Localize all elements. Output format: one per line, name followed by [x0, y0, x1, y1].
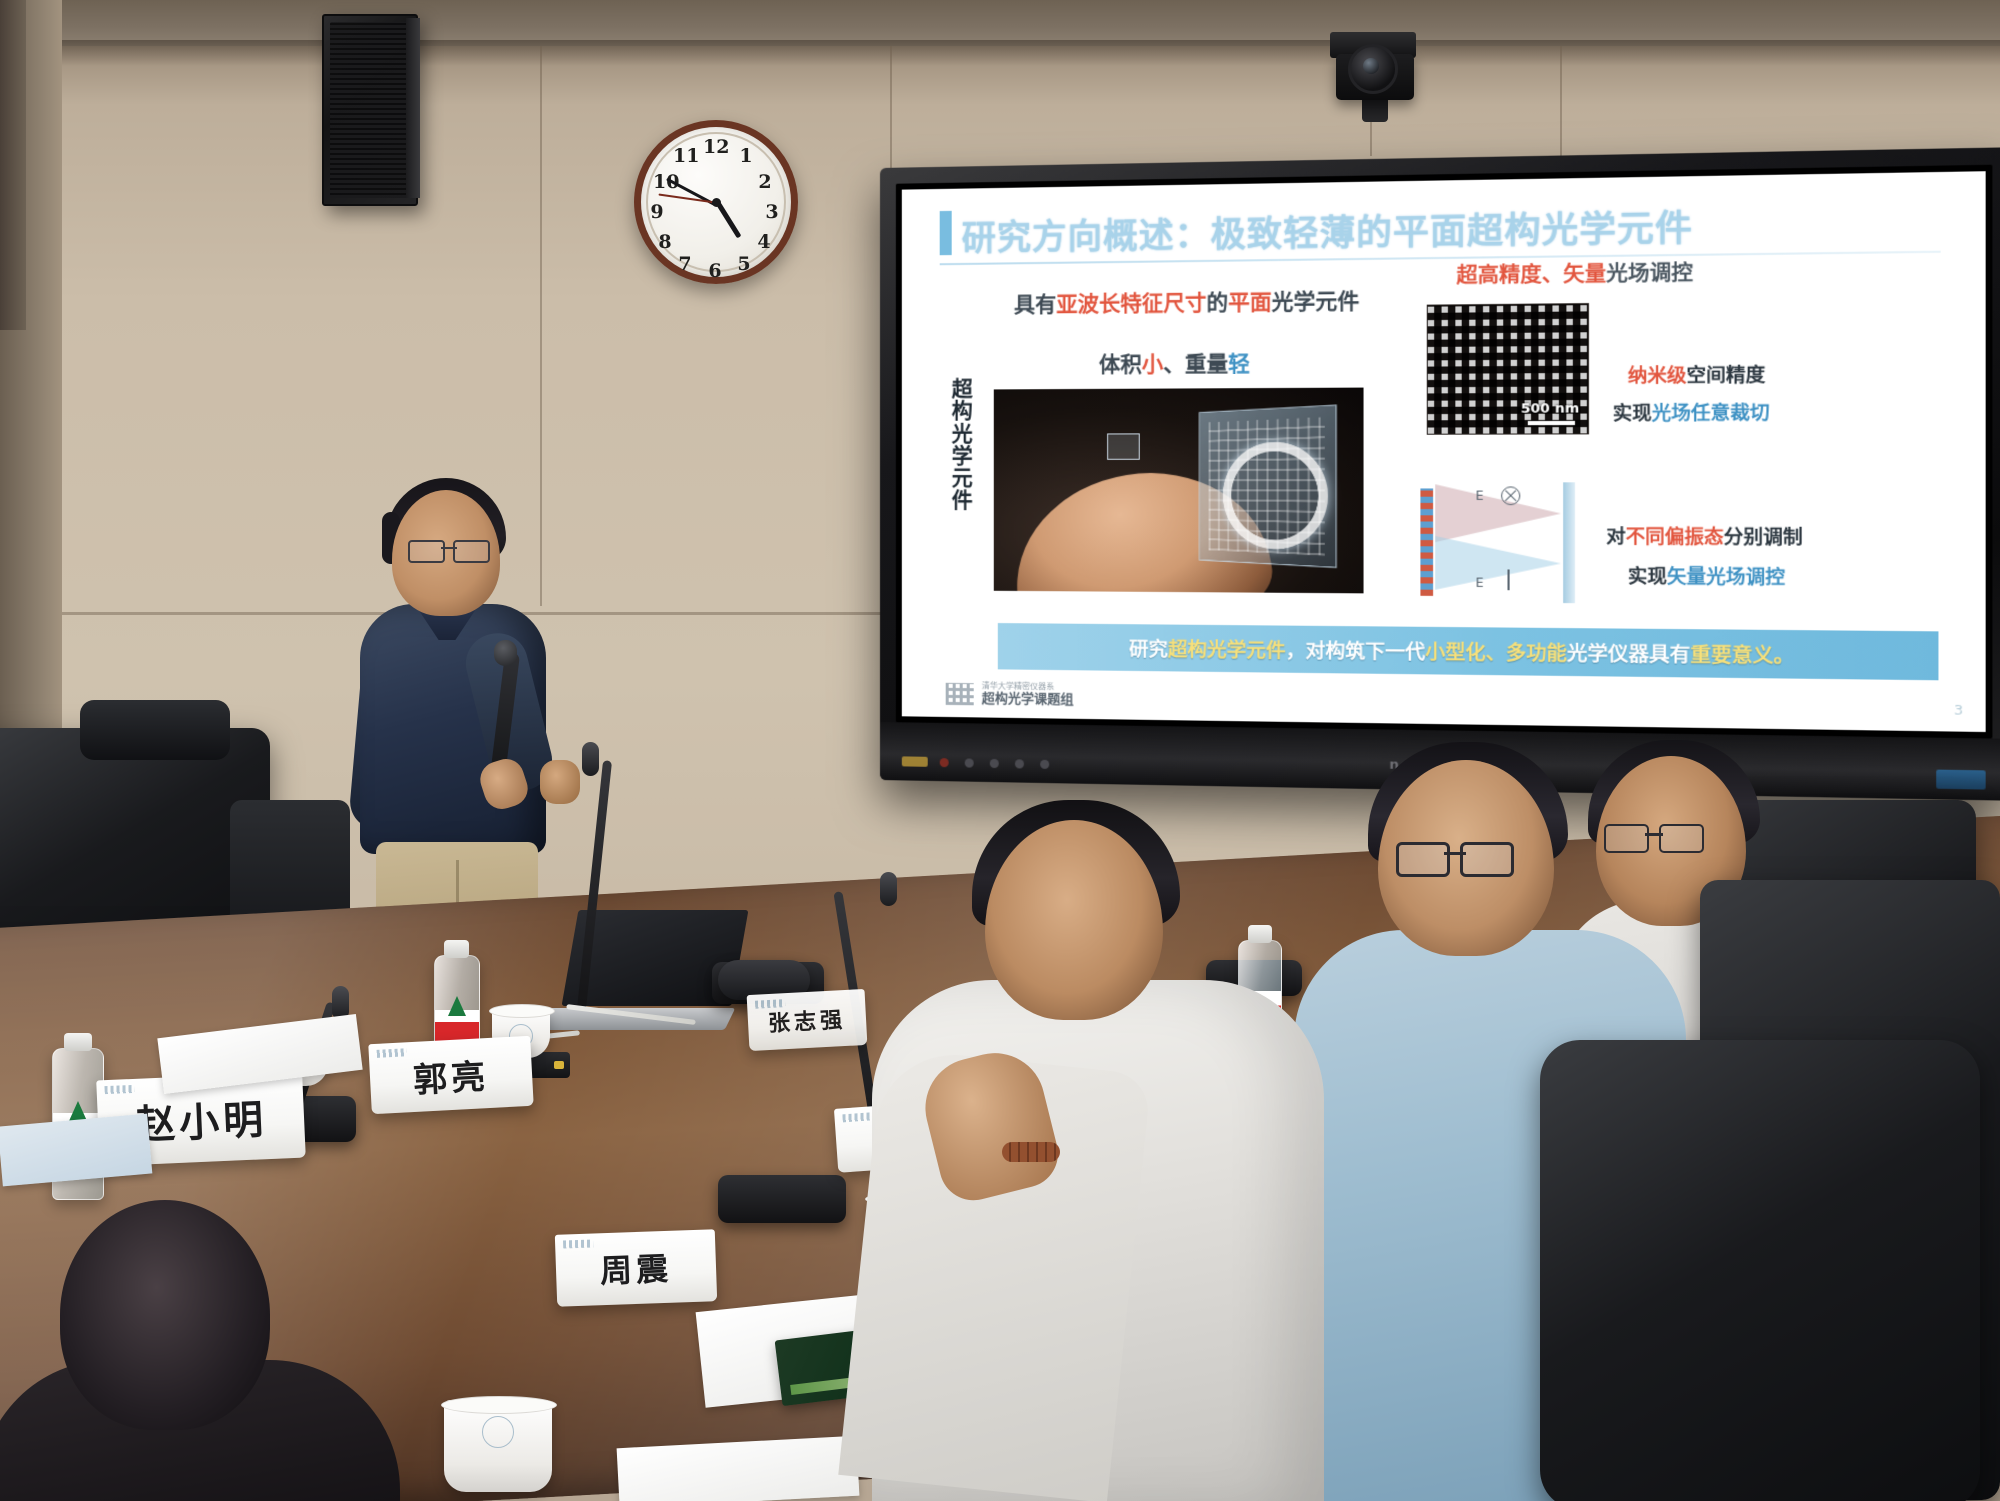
sem-micrograph: 500 nm [1427, 303, 1589, 435]
display-screen[interactable]: 研究方向概述：极致轻薄的平面超构光学元件 超构光学元件 具有亚波长特征尺寸的平面… [902, 171, 1986, 732]
glasses-left-lens [1396, 842, 1450, 877]
text-plain: 、重量 [1163, 351, 1228, 376]
wall-corner-dark [0, 0, 26, 330]
bottle-cap [444, 940, 469, 958]
polarization-diagram: E E [1414, 482, 1602, 605]
clock-numeral: 4 [753, 231, 775, 253]
presenter-left-hand [540, 760, 580, 804]
footer-group: 超构光学课题组 [982, 692, 1074, 709]
text-highlight: 小型化、多功能 [1425, 641, 1567, 665]
presenter-glasses-icon [408, 540, 490, 560]
display-bezel: 研究方向概述：极致轻薄的平面超构光学元件 超构光学元件 具有亚波长特征尺寸的平面… [896, 165, 1993, 739]
text-plain: 具有 [1014, 292, 1056, 317]
office-chair[interactable] [1540, 1040, 1980, 1501]
sem-scale-label: 500 nm [1521, 401, 1579, 417]
speaker-side [406, 18, 420, 198]
document-sheet[interactable] [617, 1436, 860, 1501]
text-plain: 体积 [1099, 352, 1142, 377]
attendee-mid-glasses-icon [1396, 842, 1514, 872]
metasurface-illustration [1199, 405, 1337, 569]
slide-title-accent [940, 211, 952, 255]
text-plain: ，对构筑下一代 [1286, 639, 1425, 663]
conference-mic-capsule [880, 872, 897, 906]
clock-numeral: 1 [735, 145, 757, 167]
in-plane-arrow-icon [1507, 569, 1509, 590]
text-highlight: 重要意义。 [1690, 643, 1794, 667]
wall-seam [540, 46, 542, 606]
polarization-color-strip [1420, 488, 1433, 595]
volume-up-button[interactable] [1015, 759, 1024, 768]
slide-conclusion-banner: 研究超构光学元件，对构筑下一代小型化、多功能光学仪器具有重要意义。 [998, 623, 1939, 680]
wall-display[interactable]: 研究方向概述：极致轻薄的平面超构光学元件 超构光学元件 具有亚波长特征尺寸的平面… [880, 147, 2000, 800]
slide-left-line2: 体积小、重量轻 [1099, 347, 1250, 379]
text-emphasis-blue: 轻 [1228, 351, 1250, 376]
status-led-icon [554, 1061, 564, 1069]
slide-page-number: 3 [1954, 703, 1963, 719]
text-plain: 研究 [1129, 638, 1168, 661]
paper-cup[interactable] [444, 1400, 552, 1492]
cup-rim [441, 1396, 557, 1414]
glasses-left-lens [408, 540, 445, 563]
slide-right-item3: 对不同偏振态分别调制 [1606, 522, 1802, 550]
text-plain: 空间精度 [1686, 364, 1765, 387]
text-plain: 分别调制 [1724, 527, 1803, 549]
banner-text: 研究超构光学元件，对构筑下一代小型化、多功能光学仪器具有重要意义。 [1129, 634, 1795, 669]
display-button-row[interactable] [940, 758, 1050, 769]
clock-numeral: 3 [761, 201, 783, 223]
slide-right-item4: 实现矢量光场调控 [1628, 562, 1785, 590]
nameplate-logo-icon [755, 999, 785, 1009]
clock-numeral: 9 [646, 201, 668, 223]
text-plain: 对 [1606, 526, 1625, 548]
wall-clock: 12 1 2 3 4 5 6 7 8 9 10 11 [634, 120, 798, 284]
cup-rim [489, 1004, 555, 1018]
source-button[interactable] [965, 758, 974, 767]
bottle-cap [1248, 925, 1272, 943]
nameplate: 周震 [555, 1229, 717, 1307]
text-plain: 实现 [1628, 566, 1667, 588]
text-emphasis-red: 平面 [1228, 290, 1272, 315]
chair-headrest [80, 700, 230, 760]
polarization-beam-lower [1435, 536, 1561, 591]
wall-seam [890, 46, 892, 186]
bottle-logo-icon [448, 996, 466, 1016]
camera-lens-icon [1348, 44, 1398, 94]
nameplate: 张志强 [747, 989, 868, 1051]
ceiling-shadow [0, 40, 2000, 66]
conference-mic-base[interactable] [718, 1175, 846, 1223]
volume-down-button[interactable] [990, 759, 999, 768]
clock-numeral: 6 [704, 260, 726, 282]
nameplate-logo-icon [377, 1048, 407, 1058]
sem-scale-bar [1528, 421, 1575, 425]
presentation-slide: 研究方向概述：极致轻薄的平面超构光学元件 超构光学元件 具有亚波长特征尺寸的平面… [902, 171, 1986, 732]
power-button[interactable] [940, 758, 949, 767]
nameplate-text: 赵小明 [134, 1087, 268, 1151]
text-emphasis-red: 超高精度、矢量 [1456, 261, 1606, 288]
glasses-bridge [1444, 852, 1466, 855]
screenshot-root: 12 1 2 3 4 5 6 7 8 9 10 11 研究方向概述：极致轻薄的平… [0, 0, 2000, 1501]
slide-left-line1: 具有亚波长特征尺寸的平面光学元件 [1014, 285, 1359, 319]
clock-numeral: 7 [674, 253, 696, 275]
clock-numeral: 12 [703, 136, 725, 158]
text-emphasis-red: 不同偏振态 [1626, 526, 1724, 548]
glasses-right-lens [1659, 824, 1704, 853]
text-emphasis-blue: 矢量光场调控 [1667, 566, 1785, 589]
clock-numeral: 5 [733, 253, 755, 275]
clock-numeral: 2 [754, 171, 776, 193]
clock-numeral: 11 [673, 145, 695, 167]
wall-seam [1560, 46, 1562, 166]
glasses-bridge [1645, 833, 1663, 836]
nameplate-text: 郭亮 [412, 1049, 490, 1102]
speaker-grill [330, 22, 410, 198]
metalens-photo [994, 388, 1364, 594]
text-plain: 实现 [1613, 403, 1652, 425]
nameplate-text: 周震 [599, 1244, 673, 1292]
text-plain: 的 [1206, 290, 1228, 315]
display-badge [1936, 770, 1985, 790]
foreground-person-head [60, 1200, 270, 1430]
slide-right-heading: 超高精度、矢量光场调控 [1456, 256, 1693, 289]
slide-right-item1: 纳米级空间精度 [1628, 360, 1765, 388]
text-plain: 光场调控 [1606, 260, 1693, 286]
out-of-plane-icon [1501, 486, 1520, 505]
nameplate-logo-icon [563, 1239, 593, 1248]
slide-footer: 清华大学精密仪器系 超构光学课题组 [946, 681, 1074, 709]
cup-logo-icon [482, 1416, 514, 1448]
glasses-right-lens [453, 540, 490, 563]
nameplate-logo-icon [842, 1112, 872, 1122]
nameplate: 郭亮 [368, 1036, 533, 1114]
glasses-left-lens [1604, 824, 1649, 853]
bottle-cap [64, 1033, 92, 1051]
text-plain: 光学元件 [1272, 289, 1360, 315]
text-emphasis-red: 亚波长特征尺寸 [1056, 290, 1206, 316]
beaded-bracelet [1002, 1142, 1060, 1162]
polarization-plate [1563, 482, 1575, 603]
polarization-label-ex: E [1476, 488, 1484, 503]
clock-center-pin [712, 198, 721, 207]
glasses-bridge [441, 547, 457, 549]
footer-text-block: 清华大学精密仪器系 超构光学课题组 [982, 681, 1074, 708]
glasses-right-lens [1460, 842, 1514, 877]
wall-speaker [322, 14, 418, 206]
chip-on-finger [1107, 433, 1140, 459]
slide-right-item2: 实现光场任意裁切 [1613, 398, 1770, 426]
polarization-beam-upper [1435, 484, 1561, 542]
text-plain: 光学仪器具有 [1567, 642, 1690, 666]
ir-sensor-icon [902, 756, 928, 766]
slide-vertical-label: 超构光学元件 [946, 377, 980, 511]
attendee-back-glasses-icon [1604, 824, 1704, 850]
text-emphasis-blue: 光场任意裁切 [1652, 402, 1770, 424]
text-emphasis-red: 纳米级 [1628, 365, 1687, 387]
text-emphasis-red: 小 [1142, 352, 1164, 377]
laptop-keyboard[interactable] [535, 1008, 736, 1030]
menu-button[interactable] [1040, 760, 1049, 769]
nameplate-logo-icon [104, 1085, 134, 1094]
polarization-label-ey: E [1476, 575, 1484, 590]
clock-numeral: 8 [654, 231, 676, 253]
university-logo-icon [946, 683, 974, 705]
text-highlight: 超构光学元件 [1168, 638, 1286, 662]
microphone-head-icon [494, 640, 517, 666]
conference-mic-capsule [582, 742, 599, 776]
slide-title: 研究方向概述：极致轻薄的平面超构光学元件 [962, 199, 1693, 260]
